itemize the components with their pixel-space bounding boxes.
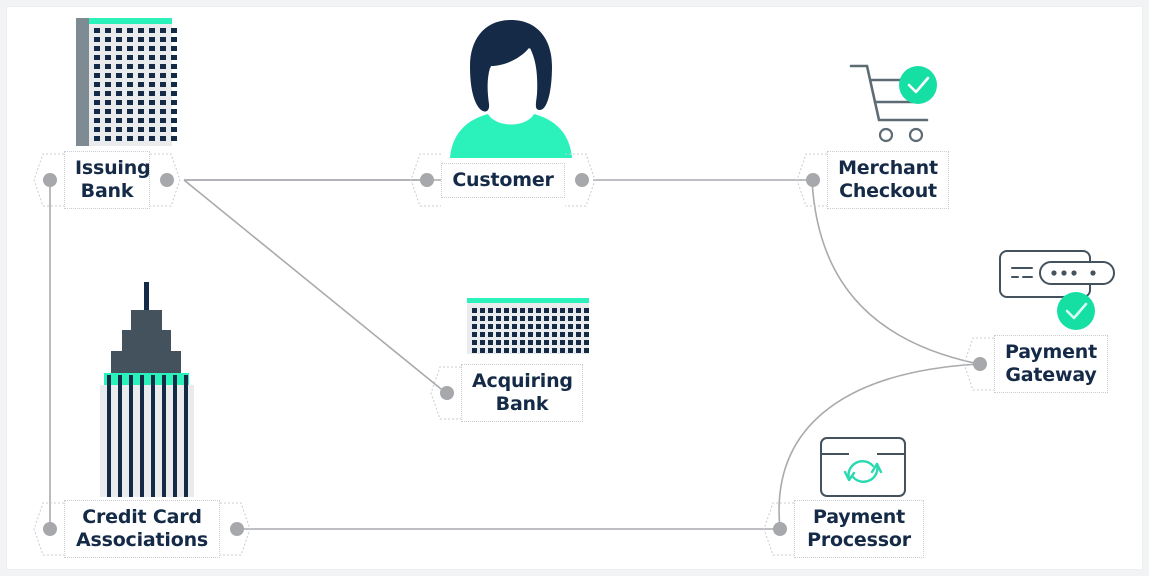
tower-stripe — [162, 375, 166, 497]
port-credit-card-associations-right[interactable] — [220, 501, 251, 557]
port-customer-left[interactable] — [410, 152, 441, 208]
edge-issuing-bank-to-acquiring-bank — [184, 180, 446, 393]
tower-stripe — [151, 375, 155, 497]
node-label-acquiring-bank: Acquiring Bank — [461, 364, 583, 422]
payment-flow-diagram: Issuing Bank — [0, 0, 1149, 576]
tower-tier-1 — [131, 310, 162, 330]
tower-stripe — [129, 375, 133, 497]
node-label-issuing-bank: Issuing Bank — [64, 151, 150, 209]
building-window-grid — [94, 28, 177, 141]
port-merchant-checkout-left[interactable] — [796, 152, 827, 208]
port-payment-processor-left[interactable] — [763, 501, 794, 557]
node-label-merchant-checkout: Merchant Checkout — [827, 151, 949, 209]
bank-building-tall-icon — [76, 18, 172, 146]
building-facade — [89, 18, 172, 146]
tower-stripe — [173, 375, 177, 497]
port-payment-gateway-left[interactable] — [963, 336, 994, 392]
customer-avatar-icon — [446, 18, 576, 158]
building-roof-accent — [467, 298, 589, 303]
node-label-credit-card-associations: Credit Card Associations — [64, 500, 220, 558]
node-label-payment-gateway: Payment Gateway — [994, 335, 1108, 393]
tower-facade — [100, 385, 194, 497]
bank-building-wide-icon — [467, 298, 589, 354]
skyscraper-icon — [100, 282, 194, 497]
node-label-customer: Customer — [441, 163, 565, 198]
port-issuing-bank-right[interactable] — [150, 152, 181, 208]
tower-stripe — [140, 375, 144, 497]
node-label-payment-processor: Payment Processor — [794, 500, 924, 558]
port-issuing-bank-left[interactable] — [33, 152, 64, 208]
port-credit-card-associations-left[interactable] — [33, 501, 64, 557]
card-refresh-icon — [819, 436, 907, 498]
tower-stripe — [184, 375, 188, 497]
tower-stripe — [118, 375, 122, 497]
shopping-cart-check-icon — [845, 58, 945, 148]
building-roof-accent — [89, 18, 172, 24]
credit-card-pill-check-icon — [996, 245, 1118, 337]
tower-stripe — [107, 375, 111, 497]
tower-tier-2 — [122, 330, 171, 351]
port-acquiring-bank-left[interactable] — [430, 365, 461, 421]
building-window-grid — [472, 308, 589, 353]
port-customer-right[interactable] — [565, 152, 596, 208]
tower-tier-3 — [111, 351, 181, 373]
tower-antenna — [144, 282, 149, 310]
building-side-wall — [76, 18, 89, 146]
building-facade — [467, 298, 589, 354]
